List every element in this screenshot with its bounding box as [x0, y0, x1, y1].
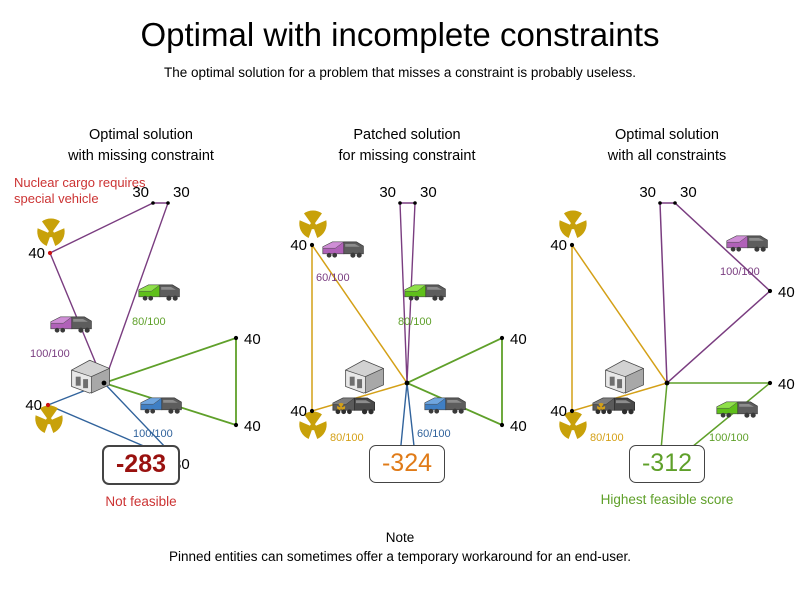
node-label: 30: [680, 184, 697, 201]
node-label: 40: [510, 331, 527, 348]
customer-node[interactable]: [500, 336, 504, 340]
vehicle-blue-truck[interactable]: 100/100: [133, 398, 181, 440]
node-label: 40: [550, 237, 567, 254]
score-area: -283 Not feasible: [8, 445, 274, 510]
depot-icon: [606, 360, 644, 393]
vehicle-capacity: 60/100: [316, 272, 350, 284]
nuclear-site-icon: [559, 211, 586, 239]
vehicle-capacity: 100/100: [709, 432, 749, 444]
vehicle-capacity: 80/100: [590, 432, 624, 444]
page-title: Optimal with incomplete constraints: [0, 16, 800, 54]
vehicle-purple-truck[interactable]: 60/100: [316, 242, 363, 284]
vehicle-green-truck[interactable]: 100/100: [709, 402, 757, 444]
vehicle-green-truck[interactable]: 80/100: [398, 285, 445, 328]
score-box[interactable]: -283: [102, 445, 180, 485]
node-label: 30: [420, 184, 437, 201]
node-label: 40: [510, 418, 527, 435]
vehicle-nuclear-truck[interactable]: 80/100: [590, 398, 635, 444]
vehicle-green-truck[interactable]: 80/100: [132, 285, 179, 328]
customer-node[interactable]: [234, 423, 238, 427]
vehicle-capacity: 100/100: [133, 428, 173, 440]
routing-diagram-3: 30 30 40 40 40 40 30 30 100/1: [534, 175, 800, 425]
depot-node[interactable]: [665, 381, 670, 386]
node-label: 30: [639, 184, 656, 201]
footer-note-label: Note: [0, 528, 800, 547]
panel-header: Optimal solution with all constraints: [534, 125, 800, 167]
score-area: -312 Highest feasible score: [534, 445, 800, 508]
depot-node[interactable]: [405, 381, 410, 386]
node-label: 40: [244, 418, 261, 435]
node-label: 40: [778, 284, 795, 301]
customer-node[interactable]: [658, 201, 662, 205]
score-value: -283: [116, 449, 166, 479]
routing-diagram-1: 40 30 30 40 40 40 30 30 100/1: [8, 175, 274, 425]
node-label: 40: [550, 403, 567, 420]
customer-node[interactable]: [48, 251, 52, 255]
vehicle-purple-truck[interactable]: 100/100: [30, 317, 91, 360]
footer-note: Note Pinned entities can sometimes offer…: [0, 528, 800, 566]
customer-node[interactable]: [570, 409, 574, 413]
customer-node[interactable]: [166, 201, 170, 205]
depot-node[interactable]: [102, 381, 107, 386]
panel-header-line2: with missing constraint: [8, 146, 274, 167]
node-label: 30: [173, 184, 190, 201]
vehicle-nuclear-truck[interactable]: 80/100: [330, 398, 375, 444]
customer-node[interactable]: [570, 243, 574, 247]
customer-node[interactable]: [234, 336, 238, 340]
customer-node[interactable]: [310, 243, 314, 247]
customer-node[interactable]: [398, 201, 402, 205]
node-label: 30: [132, 184, 149, 201]
panel-header: Optimal solution with missing constraint: [8, 125, 274, 167]
customer-node[interactable]: [46, 403, 50, 407]
depot-icon: [72, 360, 110, 393]
vehicle-capacity: 80/100: [330, 432, 364, 444]
node-label: 40: [290, 403, 307, 420]
vehicle-capacity: 80/100: [398, 316, 432, 328]
node-label: 30: [379, 184, 396, 201]
panel-header: Patched solution for missing constraint: [274, 125, 540, 167]
customer-node[interactable]: [310, 409, 314, 413]
vehicle-capacity: 60/100: [417, 428, 451, 440]
score-value: -312: [642, 448, 692, 478]
score-area: -324: [274, 445, 540, 491]
score-box[interactable]: -312: [629, 445, 705, 483]
node-label: 40: [290, 237, 307, 254]
customer-node[interactable]: [151, 201, 155, 205]
score-caption: Highest feasible score: [534, 491, 800, 508]
vehicle-blue-truck[interactable]: 60/100: [417, 398, 465, 440]
customer-node[interactable]: [413, 201, 417, 205]
panel-patched-missing-constraint: Patched solution for missing constraint: [274, 125, 540, 525]
customer-node[interactable]: [768, 289, 772, 293]
page-subtitle: The optimal solution for a problem that …: [0, 64, 800, 82]
customer-node[interactable]: [500, 423, 504, 427]
panel-header-line1: Optimal solution: [615, 127, 719, 143]
panel-header-line1: Optimal solution: [89, 127, 193, 143]
nuclear-site-icon: [299, 211, 326, 239]
panel-header-line1: Patched solution: [353, 127, 460, 143]
customer-node[interactable]: [673, 201, 677, 205]
nuclear-site-icon: [37, 219, 64, 247]
vehicle-capacity: 80/100: [132, 316, 166, 328]
routing-diagram-2: 30 30 40 40 40 40 30 30 60/10: [274, 175, 540, 425]
score-caption: Not feasible: [8, 493, 274, 510]
node-label: 40: [25, 397, 42, 414]
node-label: 40: [244, 331, 261, 348]
node-label: 40: [778, 376, 795, 393]
footer-note-body: Pinned entities can sometimes offer a te…: [0, 547, 800, 566]
panel-optimal-all-constraints: Optimal solution with all constraints: [534, 125, 800, 525]
panel-optimal-missing-constraint: Optimal solution with missing constraint…: [8, 125, 274, 525]
route-purple[interactable]: [660, 203, 770, 383]
vehicle-purple-truck[interactable]: 100/100: [720, 236, 767, 278]
depot-icon: [346, 360, 384, 393]
score-value: -324: [382, 448, 432, 478]
customer-node[interactable]: [768, 381, 772, 385]
vehicle-capacity: 100/100: [30, 348, 70, 360]
node-label: 40: [28, 245, 45, 262]
panel-header-line2: for missing constraint: [274, 146, 540, 167]
vehicle-capacity: 100/100: [720, 266, 760, 278]
score-box[interactable]: -324: [369, 445, 445, 483]
panel-header-line2: with all constraints: [534, 146, 800, 167]
